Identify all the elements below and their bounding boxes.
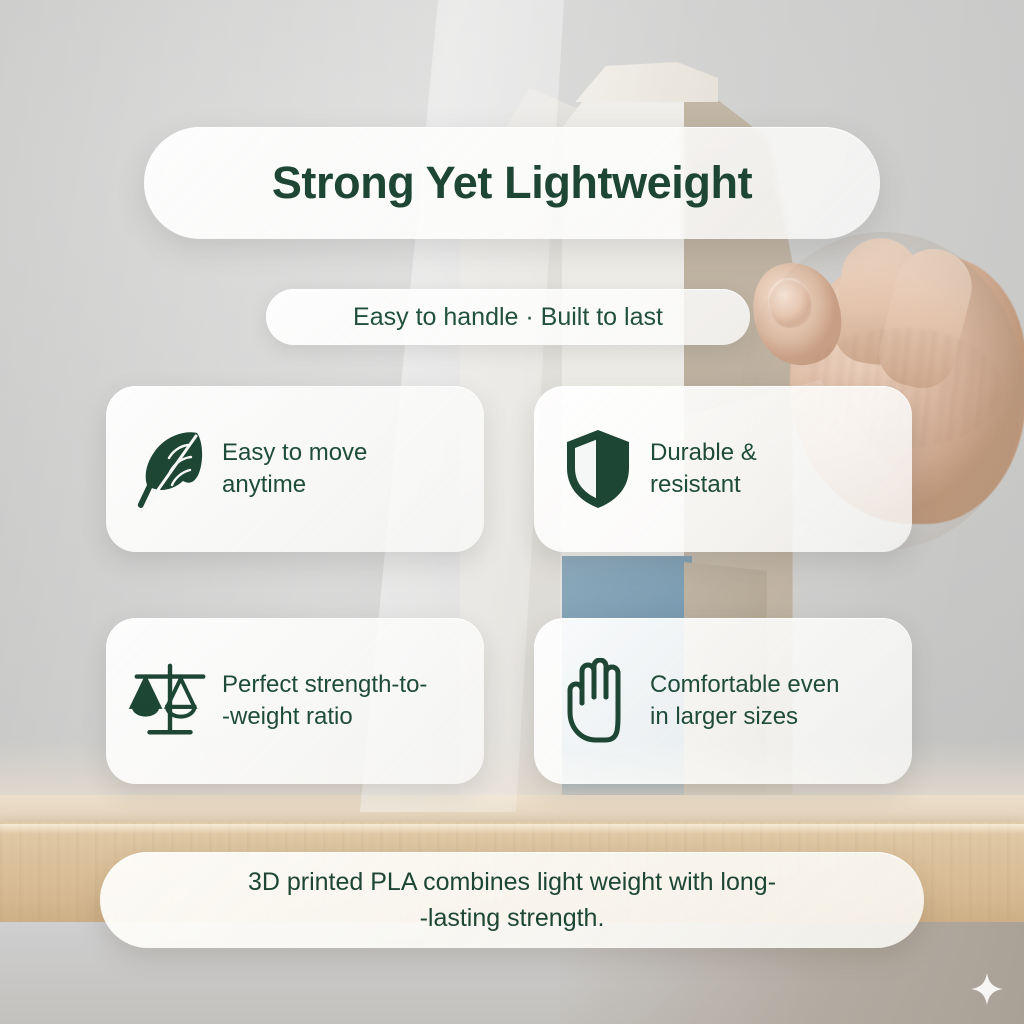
title-pill: Strong Yet Lightweight [144,127,880,239]
subtitle-pill: Easy to handle · Built to last [266,289,750,345]
feature-card-label: Perfect strength-to- -weight ratio [222,669,427,734]
footer-caption-pill: 3D printed PLA combines light weight wit… [100,852,924,948]
footer-caption-line2: -lasting strength. [420,904,605,932]
feature-label-line2: -weight ratio [222,703,353,730]
feature-card-grid: Easy to move anytime Durable & resistant [106,386,922,784]
sparkle-icon [971,973,1003,1005]
infographic-canvas: Strong Yet Lightweight Easy to handle · … [0,0,1024,1024]
footer-caption-line1: 3D printed PLA combines light weight wit… [248,868,776,896]
footer-caption: 3D printed PLA combines light weight wit… [248,864,776,937]
balance-scale-icon [128,655,212,747]
shield-icon [556,423,640,515]
shelf-edge-highlight [0,824,1024,834]
feature-card-durable[interactable]: Durable & resistant [534,386,912,552]
feature-card-comfortable[interactable]: Comfortable even in larger sizes [534,618,912,784]
feature-card-label: Easy to move anytime [222,437,367,502]
open-hand-icon [556,655,640,747]
feature-label-line1: Durable & [650,439,757,466]
object-face-top [548,62,718,102]
feature-card-strength-to-weight[interactable]: Perfect strength-to- -weight ratio [106,618,484,784]
feature-card-easy-to-move[interactable]: Easy to move anytime [106,386,484,552]
page-subtitle: Easy to handle · Built to last [353,303,663,332]
feature-label-line1: Perfect strength-to- [222,671,427,698]
page-title: Strong Yet Lightweight [272,157,752,209]
feature-label-line1: Easy to move [222,439,367,466]
feather-icon [128,423,212,515]
feature-label-line2: anytime [222,471,306,498]
feature-card-label: Durable & resistant [650,437,757,502]
feature-label-line1: Comfortable even [650,671,839,698]
feature-label-line2: resistant [650,471,741,498]
feature-label-line2: in larger sizes [650,703,798,730]
feature-card-label: Comfortable even in larger sizes [650,669,839,734]
